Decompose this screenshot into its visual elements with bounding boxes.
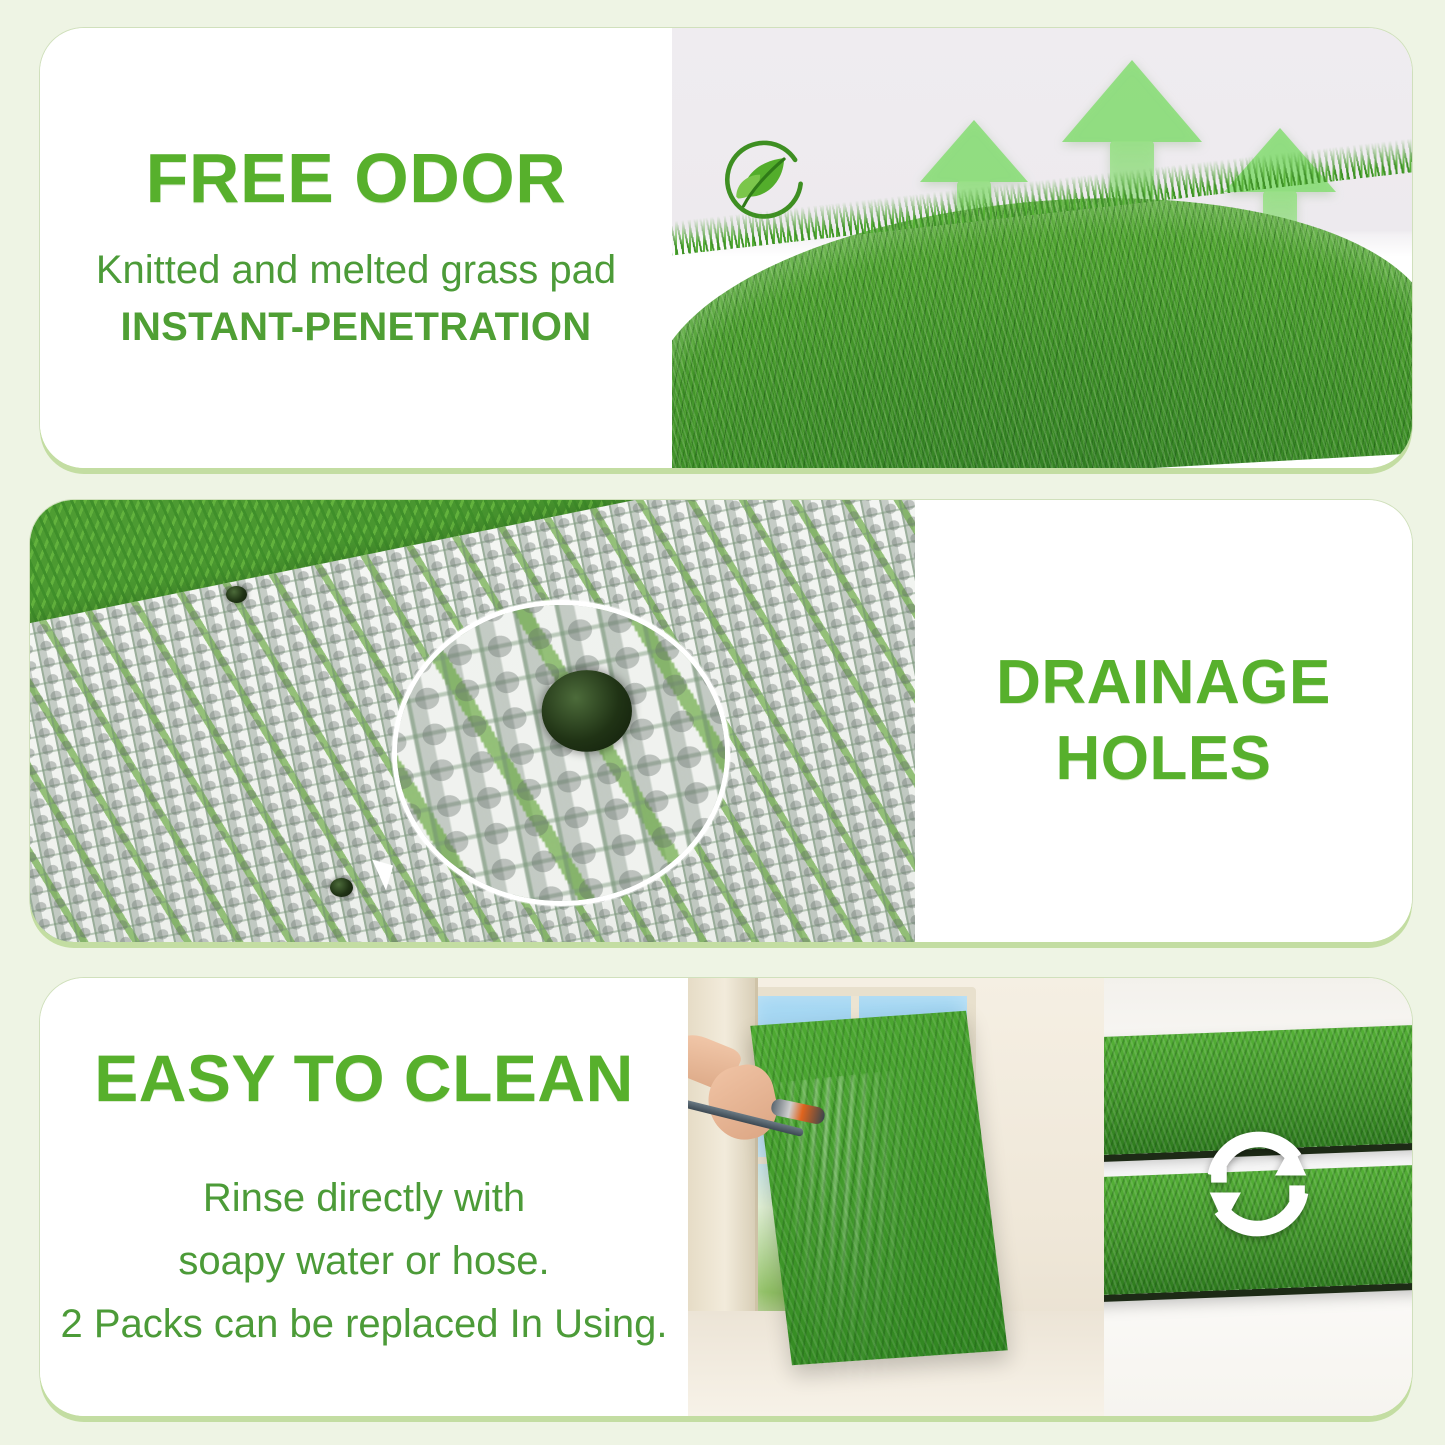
free-odor-subtitle-line-1: Knitted and melted grass pad: [96, 245, 616, 296]
easy-clean-text-block: EASY TO CLEAN Rinse directly with soapy …: [40, 978, 688, 1416]
easy-clean-line-2: soapy water or hose.: [178, 1236, 549, 1287]
free-odor-text-block: FREE ODOR Knitted and melted grass pad I…: [40, 28, 672, 468]
free-odor-subtitle-line-2: INSTANT-PENETRATION: [121, 302, 592, 353]
easy-clean-heading: EASY TO CLEAN: [94, 1044, 634, 1113]
easy-clean-line-1: Rinse directly with: [203, 1173, 525, 1224]
free-odor-heading: FREE ODOR: [146, 142, 567, 215]
magnifier-callout-icon: [392, 600, 730, 906]
panel-drainage-holes: DRAINAGE HOLES: [30, 500, 1412, 942]
easy-clean-line-3: 2 Packs can be replaced In Using.: [60, 1299, 667, 1350]
drainage-heading-line-2: HOLES: [1055, 727, 1271, 791]
drainage-photo: [30, 500, 915, 942]
infographic-board: FREE ODOR Knitted and melted grass pad I…: [0, 0, 1445, 1445]
panel-free-odor: FREE ODOR Knitted and melted grass pad I…: [40, 28, 1412, 468]
stacked-mats-photo: [1104, 978, 1412, 1416]
panel-easy-to-clean: EASY TO CLEAN Rinse directly with soapy …: [40, 978, 1412, 1416]
free-odor-photo: [672, 28, 1412, 468]
recycle-swap-icon: [1187, 1113, 1329, 1255]
drainage-heading-line-1: DRAINAGE: [996, 651, 1331, 715]
hose-rinse-photo: [688, 978, 1104, 1416]
grass-mat-photo: [672, 180, 1412, 468]
drainage-hole: [226, 586, 247, 603]
drainage-hole: [330, 878, 353, 897]
drainage-text-block: DRAINAGE HOLES: [915, 500, 1412, 942]
